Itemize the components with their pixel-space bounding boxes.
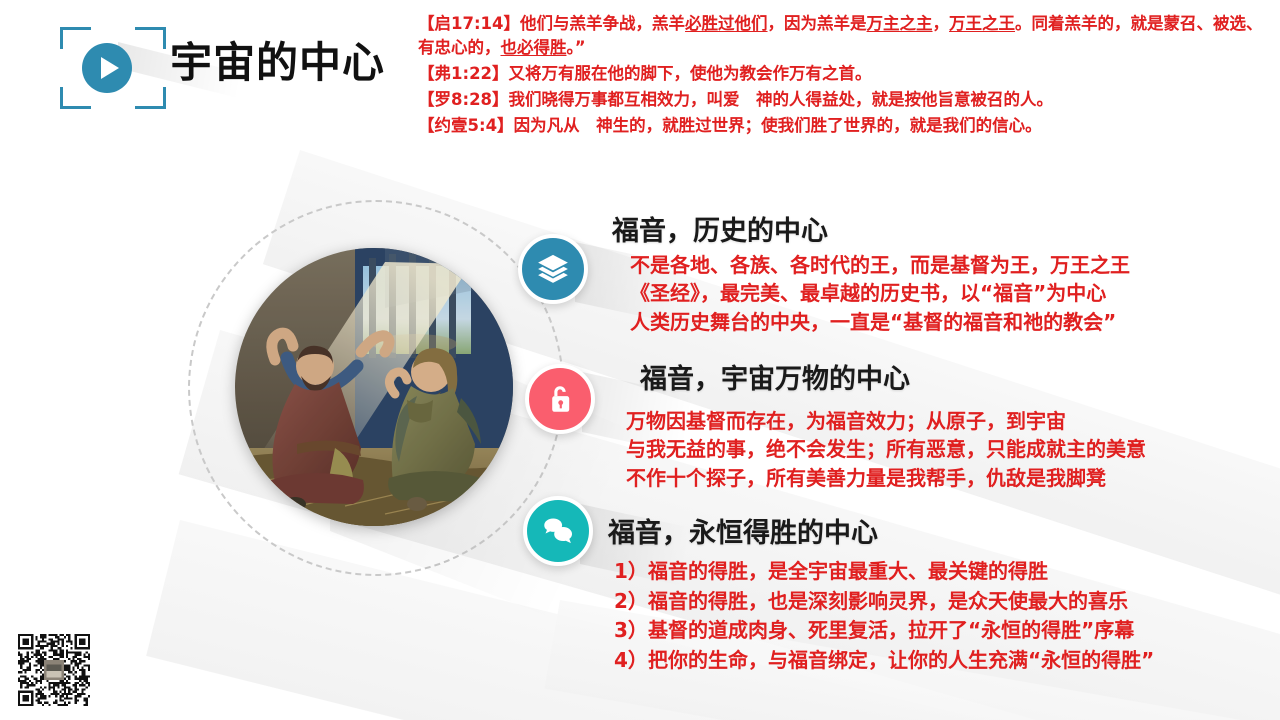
section-numbered-list: 1）福音的得胜，是全宇宙最重大、最关键的得胜2）福音的得胜，也是深刻影响灵界，是… [614,557,1154,675]
chat-bubbles-icon [523,496,593,566]
scripture-reference: 【弗1:22】 [418,64,509,83]
body-line: 与我无益的事，绝不会发生；所有恶意，只能成就主的美意 [626,435,1146,463]
section-gospel-center-of-history: 福音，历史的中心 不是各地、各族、各时代的王，而是基督为王，万王之王《圣经》，最… [612,216,1130,336]
slide-canvas: 宇宙的中心 【启17:14】他们与羔羊争战，羔羊必胜过他们，因为羔羊是万主之主，… [0,0,1280,720]
scripture-text: 因为凡从 神生的，就胜过世界；使我们胜了世界的，就是我们的信心。 [514,116,1042,135]
scripture-text: 又将万有服在他的脚下，使他为教会作万有之首。 [509,64,872,83]
qr-code[interactable] [18,634,90,706]
scripture-text: 他们与羔羊争战，羔羊 [520,14,685,33]
scripture-verse: 【弗1:22】又将万有服在他的脚下，使他为教会作万有之首。 [418,62,1268,86]
scripture-reference: 【启17:14】 [418,14,520,33]
section-gospel-center-of-universe: 福音，宇宙万物的中心 万物因基督而存在，为福音效力；从原子，到宇宙与我无益的事，… [640,364,1146,492]
logo [60,27,166,109]
list-item-text: 基督的道成肉身、死里复活，拉开了“永恒的得胜”序幕 [648,616,1134,646]
section-heading: 福音，历史的中心 [612,216,1130,247]
list-item-text: 福音的得胜，也是深刻影响灵界，是众天使最大的喜乐 [648,587,1128,617]
body-line: 不作十个探子，所有美善力量是我帮手，仇敌是我脚凳 [626,464,1146,492]
scripture-text: ，因为羔羊是 [768,14,867,33]
scripture-verse: 【约壹5:4】因为凡从 神生的，就胜过世界；使我们胜了世界的，就是我们的信心。 [418,114,1268,138]
logo-frame-gap [55,49,65,87]
body-line: 万物因基督而存在，为福音效力；从原子，到宇宙 [626,407,1146,435]
section-body: 万物因基督而存在，为福音效力；从原子，到宇宙与我无益的事，绝不会发生；所有恶意，… [626,407,1146,492]
body-line: 人类历史舞台的中央，一直是“基督的福音和祂的教会” [630,308,1130,336]
list-item-number: 2） [614,587,648,617]
list-item-number: 1） [614,557,648,587]
section-body: 不是各地、各族、各时代的王，而是基督为王，万王之王《圣经》，最完美、最卓越的历史… [630,251,1130,336]
body-line: 不是各地、各族、各时代的王，而是基督为王，万王之王 [630,251,1130,279]
scripture-emphasis: 万主之主 [867,14,933,33]
play-button-icon [82,43,132,93]
play-triangle [101,57,119,79]
scripture-block: 【启17:14】他们与羔羊争战，羔羊必胜过他们，因为羔羊是万主之主，万王之王。同… [418,12,1268,140]
section-heading: 福音，宇宙万物的中心 [640,364,1146,395]
body-line: 《圣经》，最完美、最卓越的历史书，以“福音”为中心 [630,279,1130,307]
scripture-verse: 【罗8:28】我们晓得万事都互相效力，叫爱 神的人得益处，就是按他旨意被召的人。 [418,88,1268,112]
list-item: 2）福音的得胜，也是深刻影响灵界，是众天使最大的喜乐 [614,587,1154,617]
layers-icon [518,234,588,304]
list-item: 4）把你的生命，与福音绑定，让你的人生充满“永恒的得胜” [614,646,1154,676]
scripture-text: ， [933,14,950,33]
list-item-text: 福音的得胜，是全宇宙最重大、最关键的得胜 [648,557,1048,587]
list-item: 3）基督的道成肉身、死里复活，拉开了“永恒的得胜”序幕 [614,616,1154,646]
scripture-emphasis: 也必得胜 [501,38,567,57]
scripture-emphasis: 万王之王 [949,14,1015,33]
list-item-number: 3） [614,616,648,646]
prison-prayer-painting [235,248,513,526]
scripture-reference: 【约壹5:4】 [418,116,514,135]
list-item: 1）福音的得胜，是全宇宙最重大、最关键的得胜 [614,557,1154,587]
section-heading: 福音，永恒得胜的中心 [608,518,1154,549]
section-gospel-center-of-eternal-victory: 福音，永恒得胜的中心 1）福音的得胜，是全宇宙最重大、最关键的得胜2）福音的得胜… [608,518,1154,675]
scripture-reference: 【罗8:28】 [418,90,509,109]
list-item-number: 4） [614,646,648,676]
list-item-text: 把你的生命，与福音绑定，让你的人生充满“永恒的得胜” [648,646,1154,676]
scripture-text: 我们晓得万事都互相效力，叫爱 神的人得益处，就是按他旨意被召的人。 [509,90,1054,109]
unlock-icon [525,364,595,434]
scripture-emphasis: 必胜过他们 [685,14,768,33]
scripture-verse: 【启17:14】他们与羔羊争战，羔羊必胜过他们，因为羔羊是万主之主，万王之王。同… [418,12,1268,60]
scripture-text: 。” [567,38,586,57]
